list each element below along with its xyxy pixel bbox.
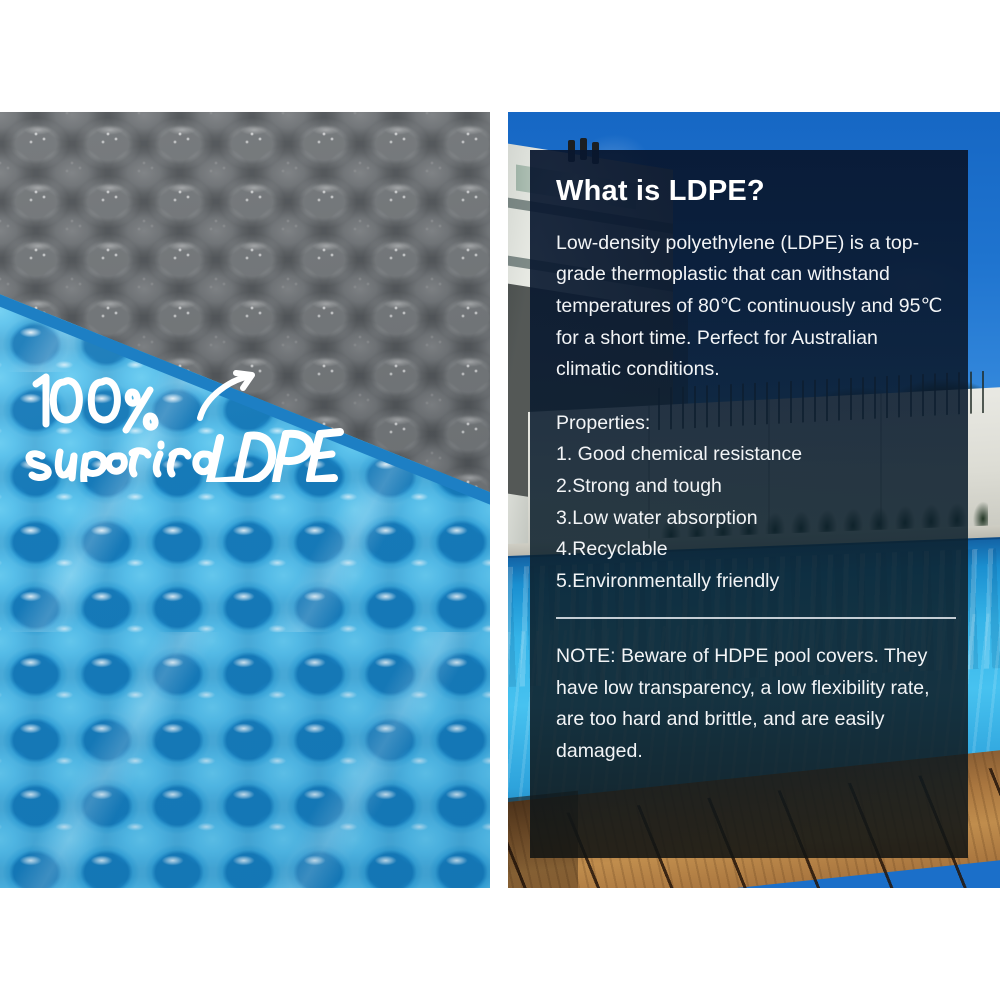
info-card: What is LDPE? Low-density polyethylene (… [530, 150, 968, 858]
product-infographic: What is LDPE? Low-density polyethylene (… [0, 0, 1000, 1000]
properties-label: Properties: [556, 408, 946, 440]
section-divider [556, 617, 956, 619]
properties-list: 1. Good chemical resistance 2.Strong and… [556, 439, 946, 597]
info-card-content: What is LDPE? Low-density polyethylene (… [556, 176, 946, 768]
list-item: 5.Environmentally friendly [556, 566, 946, 598]
list-item: 4.Recyclable [556, 534, 946, 566]
list-item: 3.Low water absorption [556, 503, 946, 535]
note-text: NOTE: Beware of HDPE pool covers. They h… [556, 641, 946, 767]
list-item: 2.Strong and tough [556, 471, 946, 503]
ldpe-info-panel: What is LDPE? Low-density polyethylene (… [508, 112, 1000, 888]
card-title: What is LDPE? [556, 176, 946, 208]
list-item: 1. Good chemical resistance [556, 439, 946, 471]
card-paragraph: Low-density polyethylene (LDPE) is a top… [556, 228, 946, 386]
pool-cover-photo-panel [0, 112, 490, 888]
